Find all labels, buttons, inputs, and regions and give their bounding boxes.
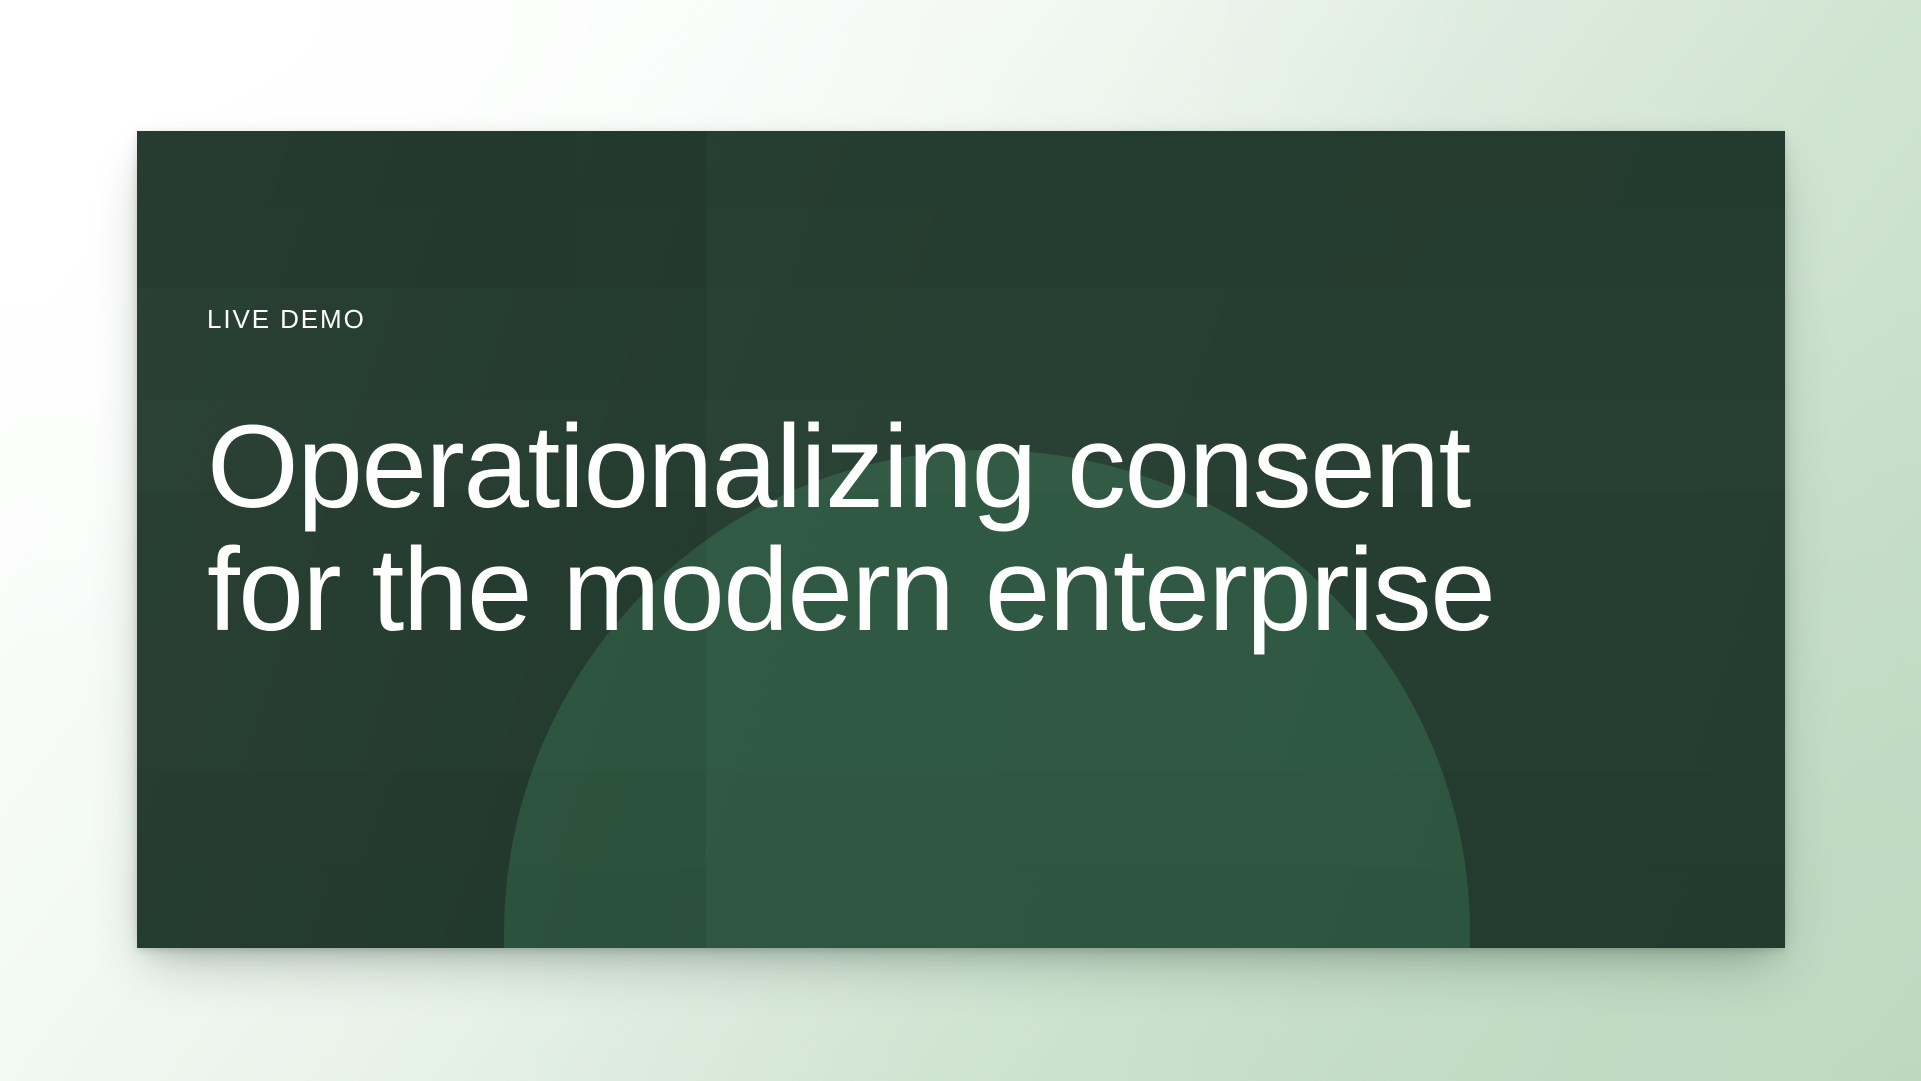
slide-card: LIVE DEMO Operationalizing consent for t… bbox=[137, 131, 1785, 948]
slide-canvas: LIVE DEMO Operationalizing consent for t… bbox=[0, 0, 1921, 1081]
slide-content: LIVE DEMO Operationalizing consent for t… bbox=[207, 131, 1767, 948]
slide-headline: Operationalizing consent for the modern … bbox=[207, 406, 1727, 651]
eyebrow-label: LIVE DEMO bbox=[207, 306, 366, 332]
